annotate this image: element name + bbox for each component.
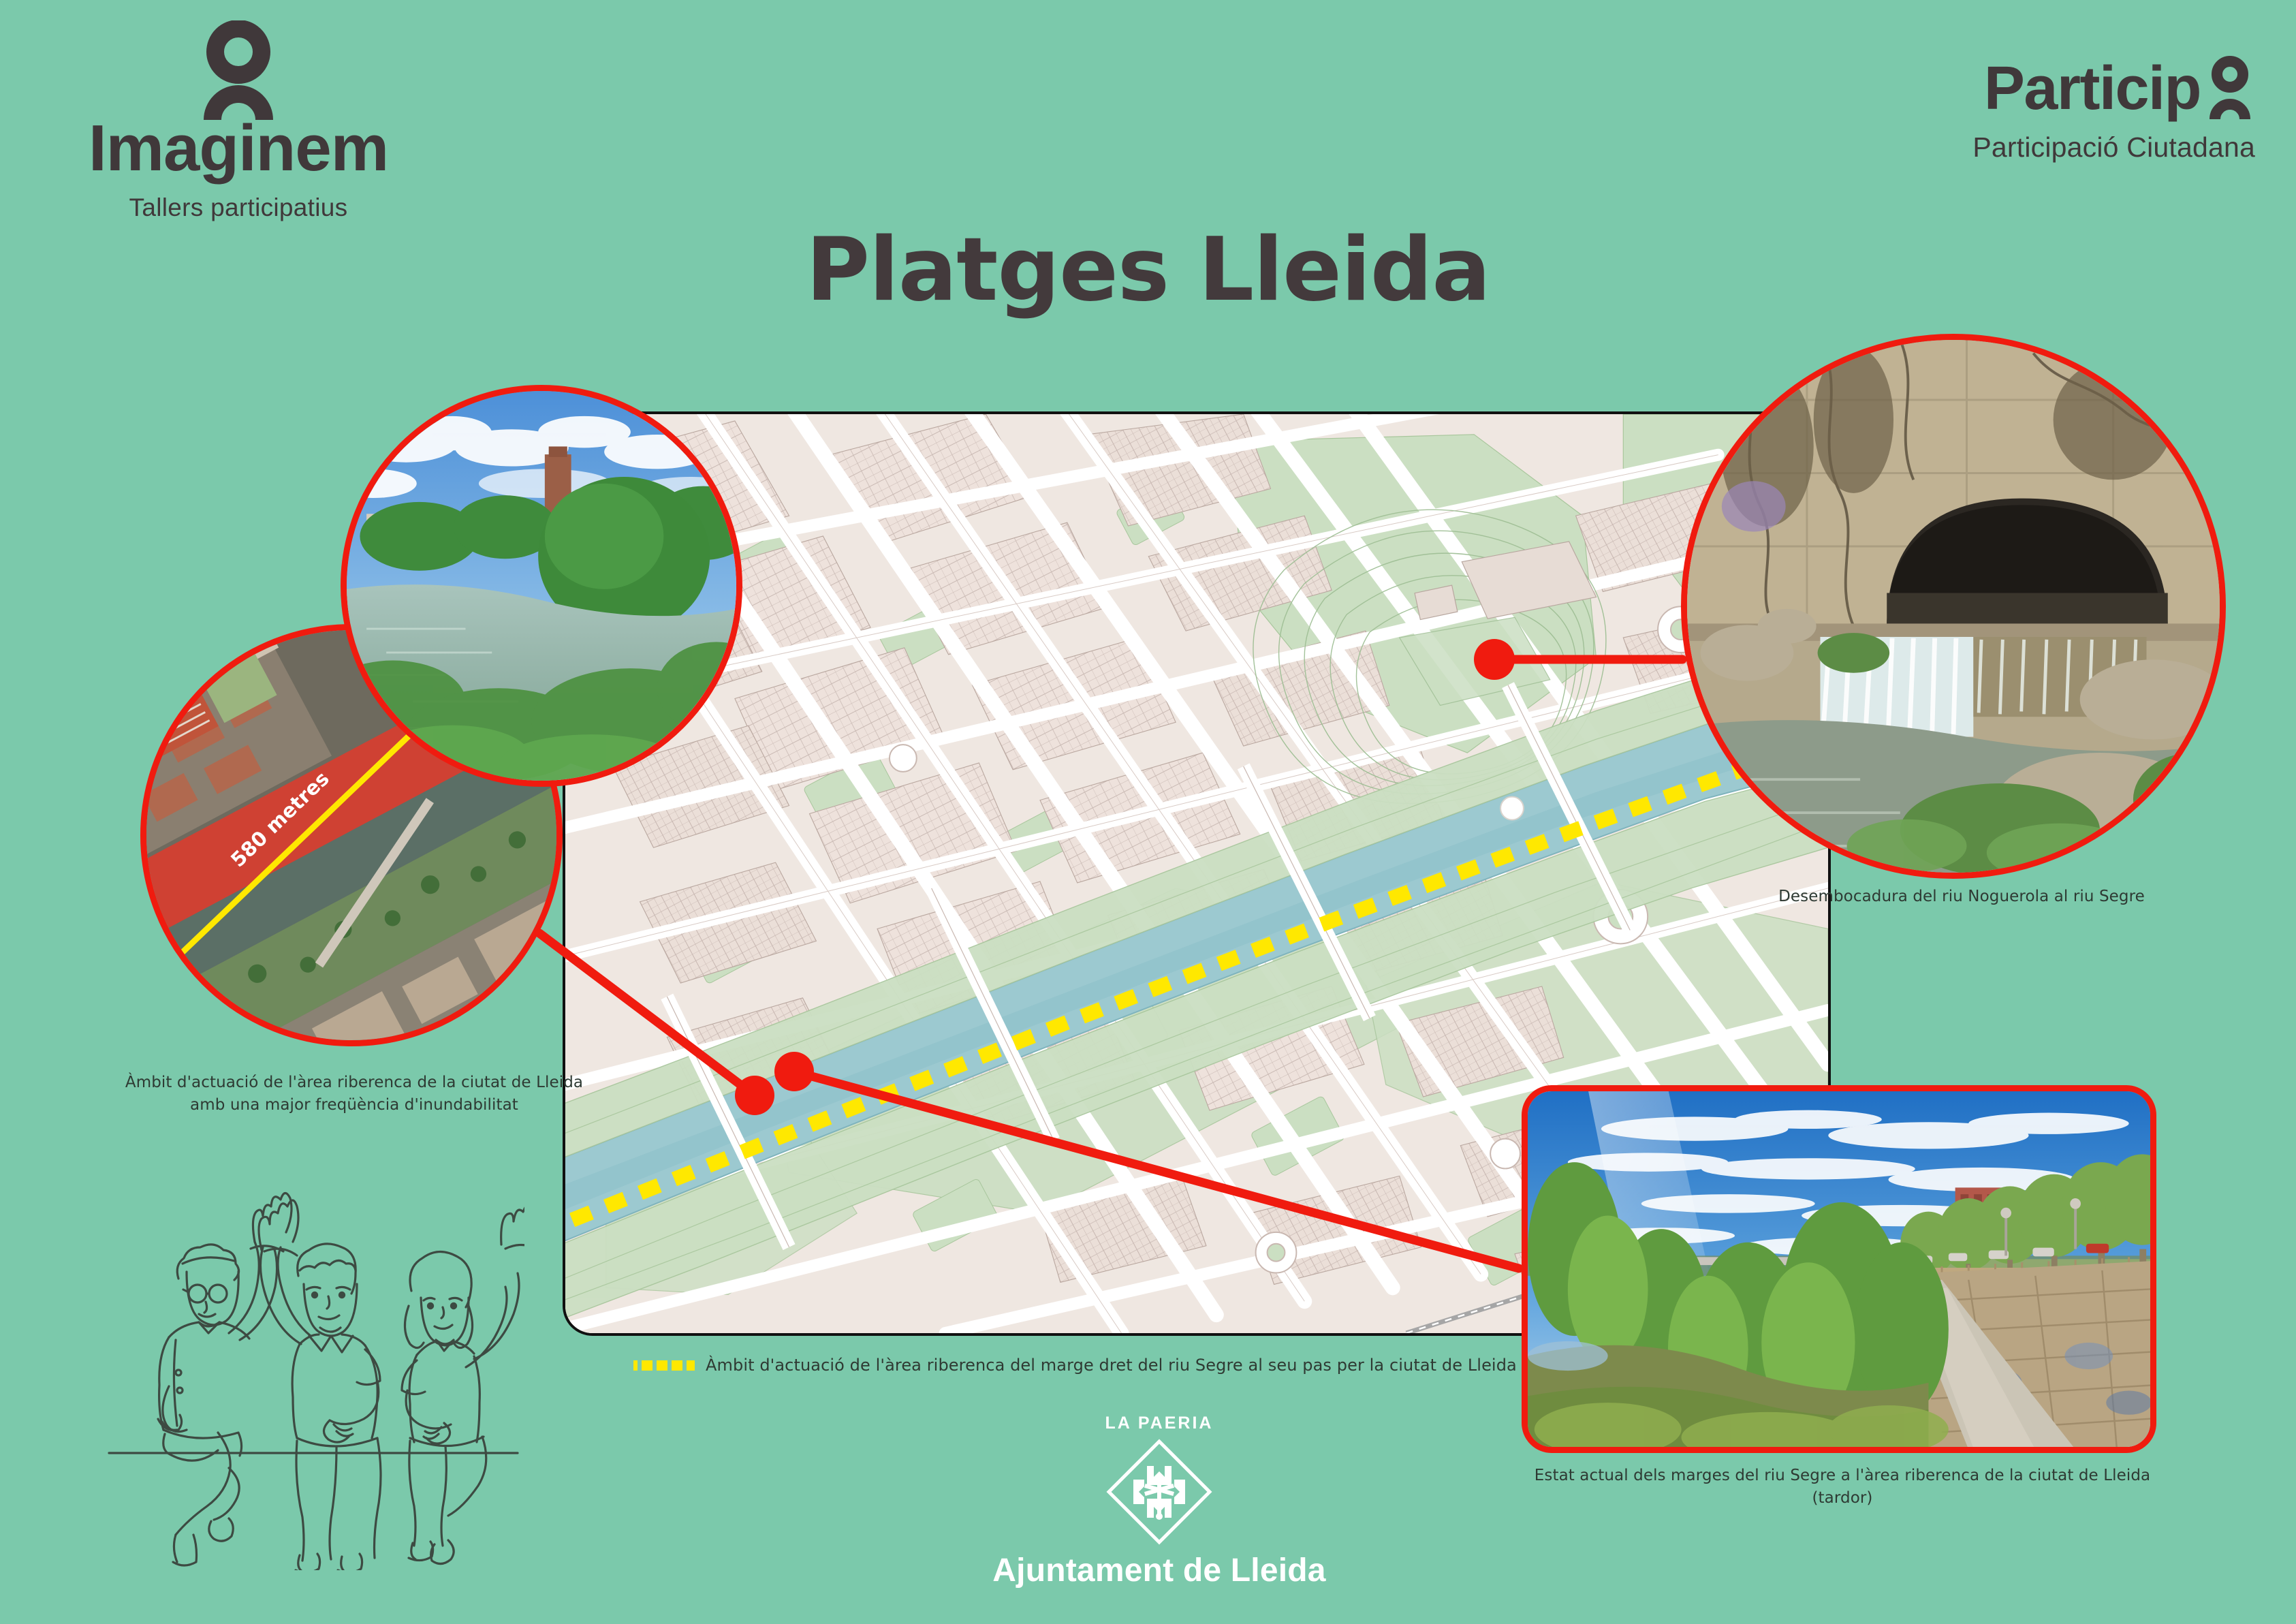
- caption-photo-aerial: Àmbit d'actuació de l'àrea riberenca de …: [89, 1072, 620, 1116]
- ajuntament-label: Ajuntament de Lleida: [989, 1552, 1330, 1589]
- brand-participo-row: Particip: [1778, 58, 2255, 121]
- yellow-dashed-line-swatch: [633, 1358, 695, 1373]
- caption-photo-segre-autumn: Estat actual dels marges del riu Segre a…: [1492, 1465, 2193, 1509]
- page-title: Platges Lleida: [0, 219, 2296, 321]
- photo-segre-autumn[interactable]: [1522, 1085, 2156, 1453]
- person-avatar-icon: [2205, 55, 2255, 121]
- photo-noguerola-image: [1687, 340, 2220, 873]
- poster-root: Imaginem Tallers participatius Particip …: [0, 0, 2296, 1624]
- brand-participo-subtitle: Participació Ciutadana: [1778, 131, 2255, 163]
- brand-ajuntament-lleida: LA PAERIA Ajuntament de Lleida: [989, 1414, 1330, 1589]
- brand-participo: Particip Participació Ciutadana: [1778, 58, 2255, 163]
- caption-line-2: (tardor): [1492, 1487, 2193, 1510]
- photo-noguerola[interactable]: [1681, 334, 2226, 879]
- person-avatar-icon: [27, 20, 450, 123]
- lleida-coat-of-arms-icon: [1105, 1437, 1214, 1546]
- paeria-label: LA PAERIA: [989, 1414, 1330, 1433]
- caption-line-2: amb una major freqüència d'inundabilitat: [89, 1094, 620, 1116]
- photo-segre-autumn-image: [1528, 1091, 2150, 1447]
- caption-line-1: Estat actual dels marges del riu Segre a…: [1492, 1465, 2193, 1487]
- photo-river-summer[interactable]: [341, 385, 742, 787]
- brand-imaginem: Imaginem Tallers participatius: [27, 20, 450, 222]
- caption-photo-noguerola: Desembocadura del riu Noguerola al riu S…: [1723, 886, 2200, 908]
- brand-participo-word: Particip: [1984, 58, 2201, 119]
- people-illustration-drawing: [102, 1161, 524, 1570]
- three-people-seated-raising-hands-illustration: [102, 1161, 524, 1570]
- map-legend: Àmbit d'actuació de l'àrea riberenca del…: [633, 1356, 1517, 1375]
- caption-line-1: Àmbit d'actuació de l'àrea riberenca de …: [89, 1072, 620, 1094]
- photo-river-summer-image: [347, 391, 736, 781]
- brand-imaginem-word: Imaginem: [27, 116, 450, 181]
- brand-imaginem-tagline: Tallers participatius: [27, 193, 450, 222]
- map-legend-label: Àmbit d'actuació de l'àrea riberenca del…: [706, 1356, 1517, 1375]
